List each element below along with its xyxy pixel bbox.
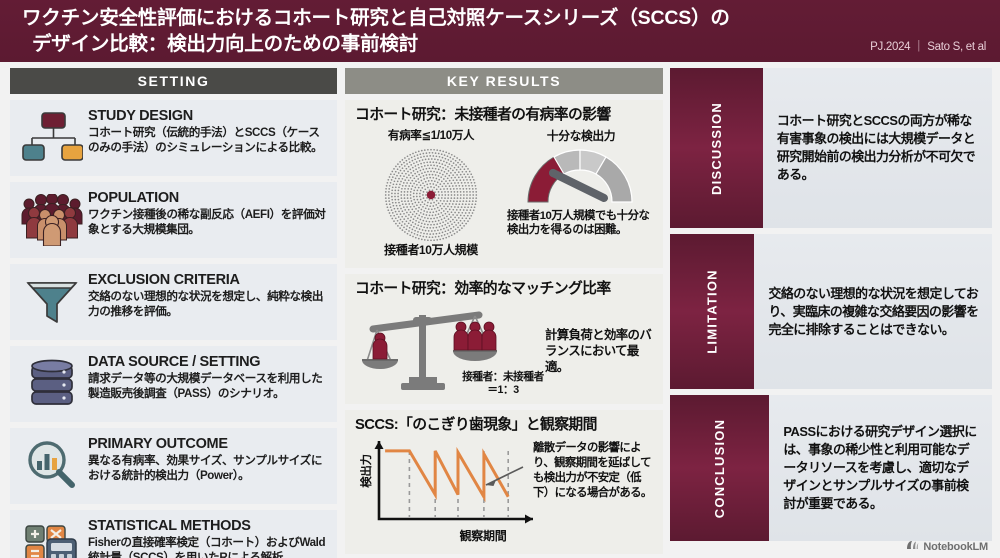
summary-tab-label: LIMITATION	[705, 269, 720, 353]
setting-card-text: POPULATION ワクチン接種後の稀な副反応（AEFI）を評価対象とする大規…	[88, 189, 329, 237]
setting-column: SETTING STUDY DESIGN コホート研究（伝統的手法）とSCCS（…	[10, 68, 337, 558]
setting-card-title: PRIMARY OUTCOME	[88, 436, 329, 453]
gauge-graphic	[520, 146, 640, 213]
setting-card-title: POPULATION	[88, 190, 329, 207]
summary-text: PASSにおける研究デザイン選択には、事象の稀少性と利用可能なデータリソースを考…	[783, 423, 980, 513]
database-icon	[16, 353, 88, 415]
setting-column-header: SETTING	[10, 68, 337, 94]
summary-block-conclusion[interactable]: CONCLUSION PASSにおける研究デザイン選択には、事象の稀少性と利用可…	[670, 395, 992, 541]
key-results-column: KEY RESULTS コホート研究：未接種者の有病率の影響 有病率≦1/10万…	[345, 68, 663, 554]
power-label: 十分な検出力	[507, 127, 655, 144]
funnel-icon	[16, 271, 88, 333]
dot-cluster-graphic	[379, 145, 483, 250]
setting-card-text: STATISTICAL METHODS Fisherの直接確率検定（コホート）お…	[88, 517, 329, 558]
setting-card-text: PRIMARY OUTCOME 異なる有病率、効果サイズ、サンプルサイズにおける…	[88, 435, 329, 483]
summary-body: PASSにおける研究デザイン選択には、事象の稀少性と利用可能なデータリソースを考…	[769, 395, 992, 541]
key-results-column-header: KEY RESULTS	[345, 68, 663, 94]
notebooklm-footer: NotebookLM	[906, 540, 988, 554]
setting-card-text: STUDY DESIGN コホート研究（伝統的手法）とSCCS（ケースのみの手法…	[88, 107, 329, 155]
summary-text: コホート研究とSCCSの両方が稀な有害事象の検出には大規模データと研究開始前の検…	[777, 112, 980, 184]
setting-card-title: STUDY DESIGN	[88, 108, 329, 125]
setting-card-data-source[interactable]: DATA SOURCE / SETTING 請求データ等の大規模データベースを利…	[10, 346, 337, 422]
panel-body: 有病率≦1/10万人 接種者10万人規模 十分な検出力	[355, 125, 654, 261]
summary-column: DISCUSSION コホート研究とSCCSの両方が稀な有害事象の検出には大規模…	[670, 68, 992, 547]
key-result-panel-prevalence[interactable]: コホート研究：未接種者の有病率の影響 有病率≦1/10万人 接種者10万人規模 …	[345, 100, 663, 268]
panel-body: 接種者：未接種者 ＝1：3 計算負荷と効率のバランスにおいて最適。	[355, 299, 654, 397]
summary-body: 交絡のない理想的な状況を想定しており、実臨床の複雑な交絡要因の影響を完全に排除す…	[754, 234, 992, 389]
key-result-panel-matching-ratio[interactable]: コホート研究：効率的なマッチング比率	[345, 274, 663, 404]
key-result-panel-sawtooth[interactable]: SCCS:「のこぎり歯現象」と観察期間 検出力 観察期間	[345, 410, 663, 554]
ratio-value-text: ＝1：3	[433, 384, 573, 397]
chart-x-axis-label: 観察期間	[413, 527, 553, 544]
summary-tab-limitation[interactable]: LIMITATION	[670, 234, 754, 389]
sawtooth-note: 離散データの影響により、観察期間を延ばしても検出力が不安定（低下）になる場合があ…	[533, 441, 655, 501]
calculator-icon	[16, 517, 88, 558]
summary-body: コホート研究とSCCSの両方が稀な有害事象の検出には大規模データと研究開始前の検…	[763, 68, 992, 228]
summary-tab-label: DISCUSSION	[709, 102, 724, 195]
power-note: 接種者10万人規模でも十分な検出力を得るのは困難。	[507, 209, 655, 238]
setting-card-desc: Fisherの直接確率検定（コホート）およびWald統計量（SCCS）を用いたR…	[88, 536, 329, 558]
notebooklm-label: NotebookLM	[923, 541, 988, 553]
summary-text: 交絡のない理想的な状況を想定しており、実臨床の複雑な交絡要因の影響を完全に排除す…	[768, 285, 980, 339]
bar-chart-magnifier-icon	[16, 435, 88, 497]
panel-title: SCCS:「のこぎり歯現象」と観察期間	[355, 416, 654, 435]
page-title-line1: ワクチン安全性評価におけるコホート研究と自己対照ケースシリーズ（SCCS）の	[22, 7, 730, 29]
cohort-size-caption: 接種者10万人規模	[355, 241, 507, 258]
setting-card-desc: ワクチン接種後の稀な副反応（AEFI）を評価対象とする大規模集団。	[88, 208, 329, 237]
summary-block-limitation[interactable]: LIMITATION 交絡のない理想的な状況を想定しており、実臨床の複雑な交絡要…	[670, 234, 992, 389]
matching-ratio-note: 計算負荷と効率のバランスにおいて最適。	[545, 327, 657, 375]
setting-card-desc: 異なる有病率、効果サイズ、サンプルサイズにおける統計的検出力（Power）。	[88, 454, 329, 483]
setting-card-text: DATA SOURCE / SETTING 請求データ等の大規模データベースを利…	[88, 353, 329, 401]
setting-card-title: DATA SOURCE / SETTING	[88, 354, 329, 371]
summary-tab-discussion[interactable]: DISCUSSION	[670, 68, 763, 228]
prevalence-label: 有病率≦1/10万人	[361, 127, 501, 143]
summary-tab-label: CONCLUSION	[712, 418, 727, 517]
poster-header: ワクチン安全性評価におけるコホート研究と自己対照ケースシリーズ（SCCS）の デ…	[0, 0, 1000, 62]
summary-block-discussion[interactable]: DISCUSSION コホート研究とSCCSの両方が稀な有害事象の検出には大規模…	[670, 68, 992, 228]
page-title-line2: デザイン比較：検出力向上のための事前検討	[22, 31, 842, 57]
setting-card-desc: 交絡のない理想的な状況を想定し、純粋な検出力の推移を評価。	[88, 290, 329, 319]
sawtooth-chart	[355, 437, 537, 538]
summary-tab-conclusion[interactable]: CONCLUSION	[670, 395, 769, 541]
setting-card-population[interactable]: POPULATION ワクチン接種後の稀な副反応（AEFI）を評価対象とする大規…	[10, 182, 337, 258]
setting-card-desc: コホート研究（伝統的手法）とSCCS（ケースのみの手法）のシミュレーションによる…	[88, 126, 329, 155]
setting-card-exclusion-criteria[interactable]: EXCLUSION CRITERIA 交絡のない理想的な状況を想定し、純粋な検出…	[10, 264, 337, 340]
panel-title: コホート研究：未接種者の有病率の影響	[355, 106, 654, 125]
page-title: ワクチン安全性評価におけるコホート研究と自己対照ケースシリーズ（SCCS）の デ…	[22, 5, 842, 57]
population-group-icon	[16, 189, 88, 251]
setting-card-title: STATISTICAL METHODS	[88, 518, 329, 535]
setting-card-title: EXCLUSION CRITERIA	[88, 272, 329, 289]
notebooklm-icon	[906, 540, 919, 554]
org-chart-icon	[16, 107, 88, 169]
setting-card-statistical-methods[interactable]: STATISTICAL METHODS Fisherの直接確率検定（コホート）お…	[10, 510, 337, 558]
setting-card-primary-outcome[interactable]: PRIMARY OUTCOME 異なる有病率、効果サイズ、サンプルサイズにおける…	[10, 428, 337, 504]
panel-title: コホート研究：効率的なマッチング比率	[355, 280, 654, 299]
panel-body: 検出力 観察期間 離散データの影響により、観察期間を延ばしても検出力が不安定（低	[355, 435, 654, 547]
setting-card-study-design[interactable]: STUDY DESIGN コホート研究（伝統的手法）とSCCS（ケースのみの手法…	[10, 100, 337, 176]
poster-canvas: ワクチン安全性評価におけるコホート研究と自己対照ケースシリーズ（SCCS）の デ…	[0, 0, 1000, 558]
setting-card-text: EXCLUSION CRITERIA 交絡のない理想的な状況を想定し、純粋な検出…	[88, 271, 329, 319]
citation-meta: PJ.2024 ｜ Sato S, et al	[870, 38, 986, 54]
setting-card-desc: 請求データ等の大規模データベースを利用した製造販売後調査（PASS）のシナリオ。	[88, 372, 329, 401]
